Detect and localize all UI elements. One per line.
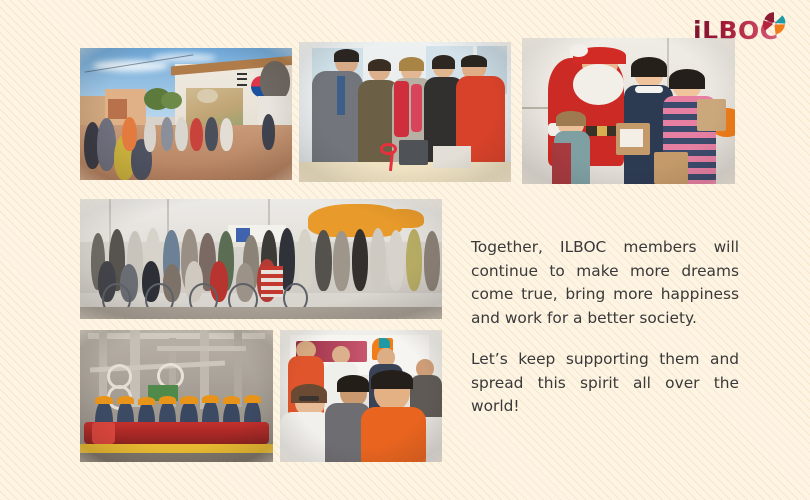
photo-large-group: [80, 199, 442, 319]
photo-plant-workers: [80, 330, 273, 462]
message-paragraph-2: Let’s keep supporting them and spread th…: [471, 348, 739, 419]
message-paragraph-1: Together, ILBOC members will continue to…: [471, 236, 739, 330]
photo-meeting-room: [280, 330, 442, 462]
photo-office-group: [299, 42, 511, 182]
photo-santa-children: [522, 38, 735, 184]
pinwheel-icon: [759, 9, 789, 39]
slide-canvas: iLBOC: [0, 0, 810, 500]
photo-school-mural: [80, 48, 292, 180]
message-block: Together, ILBOC members will continue to…: [471, 236, 739, 419]
